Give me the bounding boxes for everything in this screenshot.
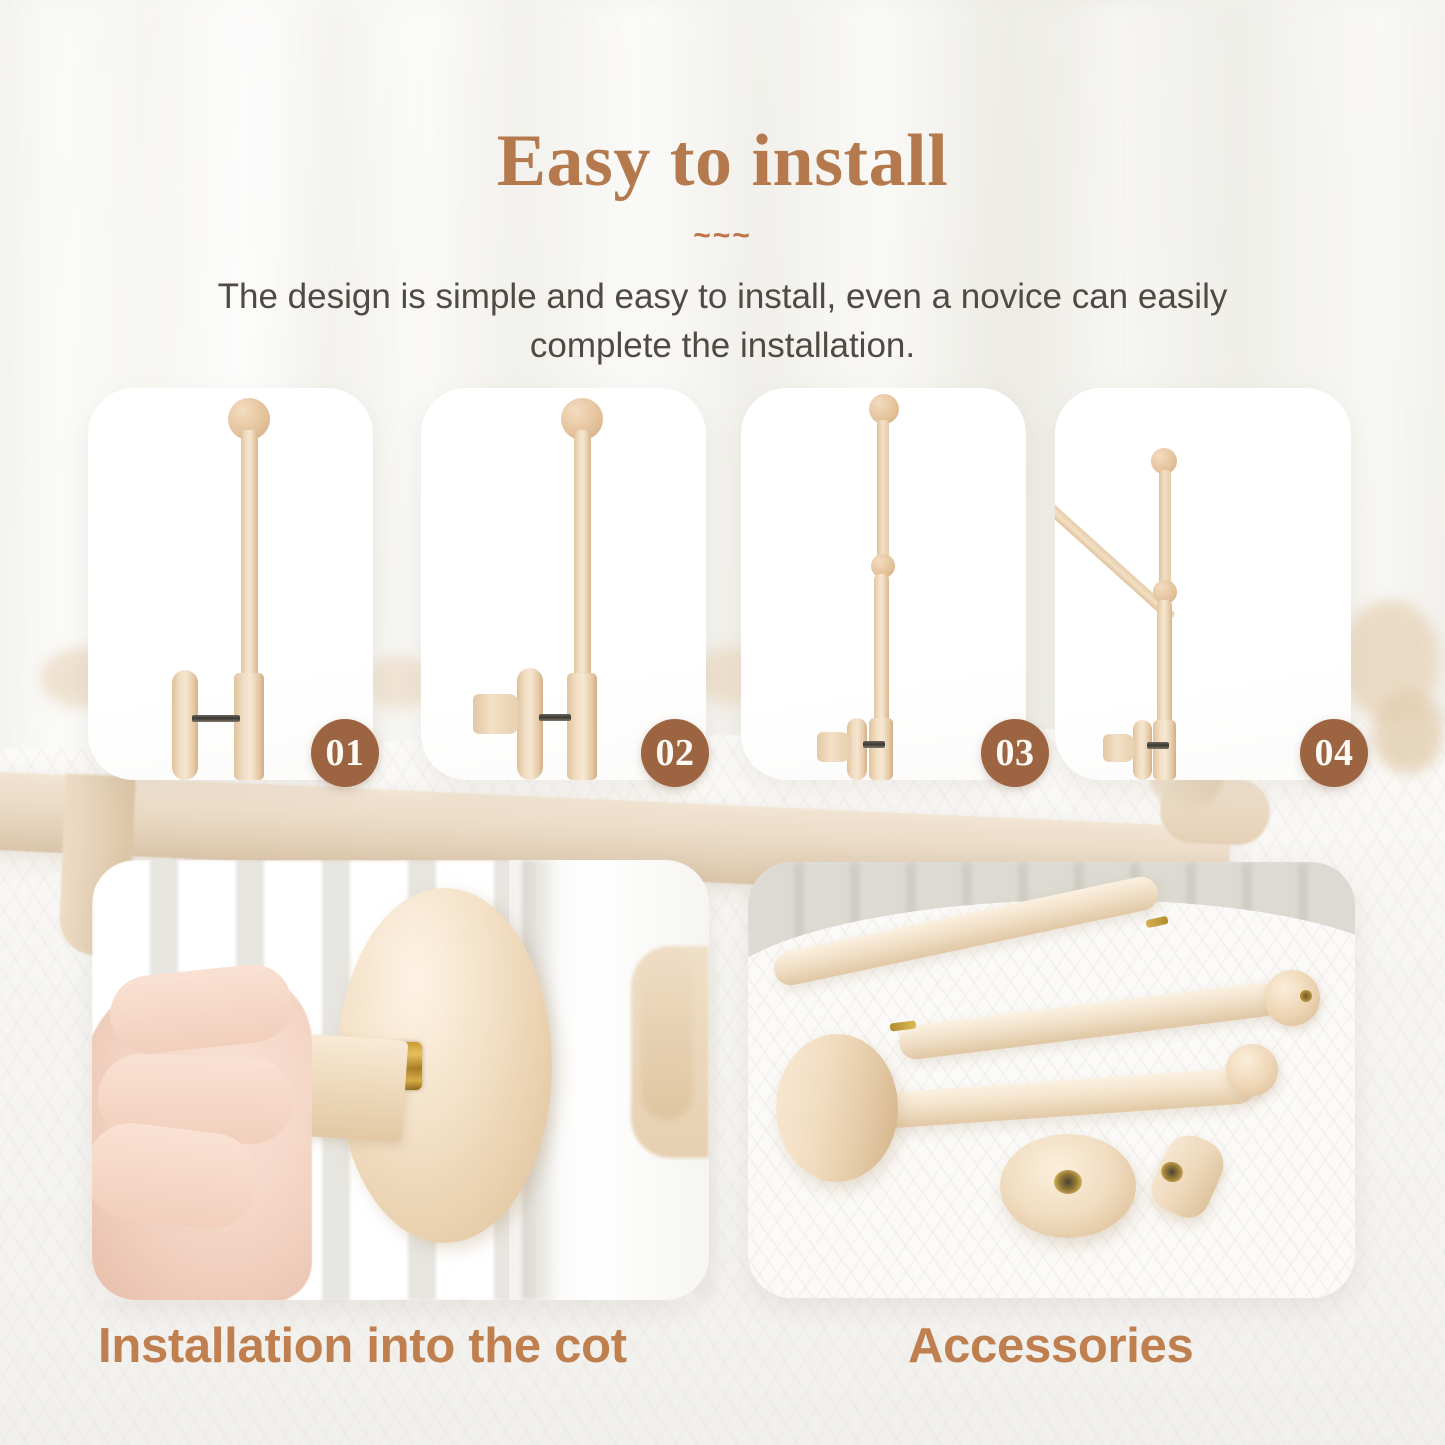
accessory-ball-finial [1226, 1044, 1278, 1096]
wood-rod-sleeve [869, 718, 893, 780]
wood-knob [473, 694, 519, 734]
metal-screw [539, 714, 571, 721]
wood-extension-rod [877, 420, 889, 562]
step-card-03[interactable] [741, 388, 1026, 780]
accessories-photo[interactable] [748, 862, 1355, 1298]
wood-knob [817, 732, 851, 762]
wood-main-rod [241, 430, 258, 680]
step-badge-02: 02 [641, 719, 709, 787]
step-badge-03: 03 [981, 719, 1049, 787]
wood-main-rod [574, 430, 591, 680]
accessory-large-disc [776, 1034, 898, 1182]
wood-rod-sleeve [234, 673, 264, 780]
wood-upper-rod [1159, 470, 1171, 588]
caption-installation: Installation into the cot [98, 1318, 627, 1374]
metal-screw [192, 715, 240, 722]
page-subtitle: The design is simple and easy to install… [158, 272, 1288, 370]
wood-main-rod [1157, 600, 1172, 728]
caption-accessories: Accessories [908, 1318, 1193, 1374]
step-card-row [88, 388, 1360, 780]
divider-squiggle: ~~~ [0, 219, 1445, 253]
accessory-ball-hole [1300, 990, 1312, 1002]
wood-rod-sleeve [567, 673, 597, 780]
step-badge-04: 04 [1300, 719, 1368, 787]
infographic-page: Easy to install ~~~ The design is simple… [0, 0, 1445, 1445]
installation-photo[interactable] [92, 860, 709, 1300]
wood-disc-base [1133, 720, 1152, 780]
page-title: Easy to install [0, 117, 1445, 205]
metal-screw [1147, 742, 1169, 749]
step-badge-01: 01 [311, 719, 379, 787]
wood-main-rod [874, 574, 889, 726]
wood-blur-accent [641, 950, 693, 1120]
step-card-04[interactable] [1055, 388, 1351, 780]
wood-disc-base [517, 668, 543, 780]
metal-screw [863, 741, 885, 748]
accessory-threaded-disc-insert [1054, 1170, 1082, 1194]
wood-disc-base [172, 670, 198, 780]
wood-blur-blob [1372, 690, 1444, 774]
wood-knob [1103, 734, 1135, 762]
wood-rod-sleeve [1153, 720, 1176, 780]
